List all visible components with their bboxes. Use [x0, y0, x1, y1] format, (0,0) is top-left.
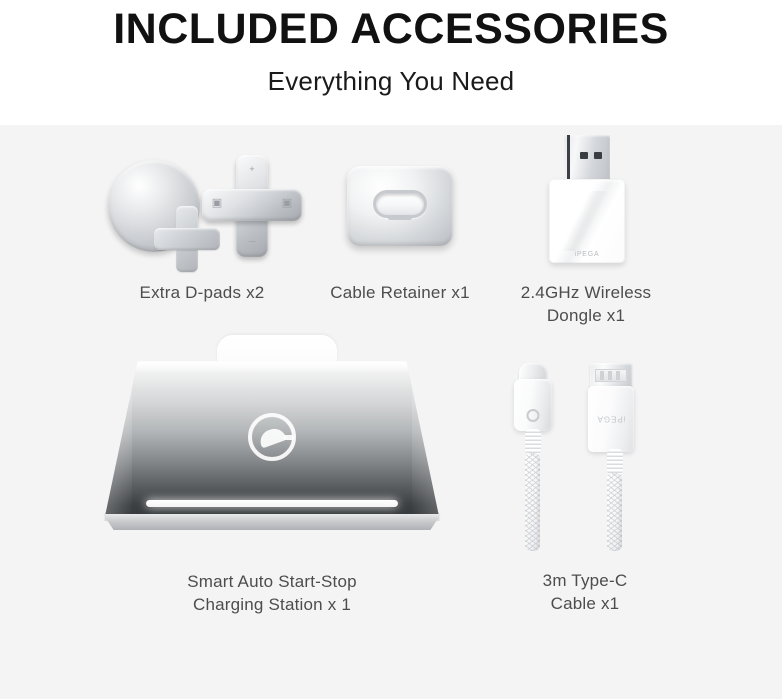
station-shell — [104, 361, 440, 521]
braided-wire-right — [607, 473, 622, 551]
cable-retainer-icon — [320, 147, 480, 267]
dpad-glyph-left: ▣ — [206, 199, 228, 208]
usb-a-pin-1 — [600, 371, 604, 380]
accessory-item-type-c-cable: iPEGA 3m Type-C Cable x1 — [492, 357, 678, 615]
dpad-glyph-down: — — [236, 237, 268, 246]
usb-a-pin-3 — [616, 371, 620, 380]
accessory-item-extra-dpads: + ▣ ▣ — Extra D-pads x2 — [96, 147, 308, 304]
station-right-highlight — [412, 365, 438, 515]
usb-c-cable-icon: iPEGA — [492, 357, 678, 553]
accessory-item-charging-station: Smart Auto Start-Stop Charging Station x… — [82, 335, 462, 616]
accessory-item-wireless-dongle: iPEGA 2.4GHz Wireless Dongle x1 — [498, 129, 674, 327]
dongle-housing-sheen — [549, 191, 625, 251]
charging-station-icon — [82, 335, 462, 550]
station-base — [96, 514, 448, 530]
dongle-usb-plug — [564, 135, 610, 183]
usb-a-strain-relief — [607, 449, 623, 475]
accessory-label-wireless-dongle: 2.4GHz Wireless Dongle x1 — [498, 281, 674, 327]
accessory-label-type-c-cable: 3m Type-C Cable x1 — [492, 569, 678, 615]
dpad-cross-icon: + ▣ ▣ — — [200, 153, 304, 259]
dongle-plug-slot-left — [580, 152, 588, 159]
header-section: INCLUDED ACCESSORIES Everything You Need — [0, 0, 782, 125]
ipega-g-logo — [248, 413, 296, 461]
braided-wire-left — [525, 453, 540, 551]
dpad-round-icon — [108, 160, 200, 252]
dpad-glyph-up: + — [236, 165, 268, 174]
accessory-label-extra-dpads: Extra D-pads x2 — [96, 281, 308, 304]
station-left-highlight — [106, 365, 132, 515]
usb-c-housing — [514, 379, 552, 431]
dongle-housing: iPEGA — [549, 179, 625, 263]
dongle-plug-edge — [567, 135, 570, 183]
accessories-infographic: INCLUDED ACCESSORIES Everything You Need… — [0, 0, 782, 699]
accessories-panel: + ▣ ▣ — Extra D-pads x2 Cable Retainer x… — [0, 125, 782, 699]
page-subtitle: Everything You Need — [0, 64, 782, 98]
dongle-brand-mark: iPEGA — [549, 251, 625, 258]
accessory-label-charging-station: Smart Auto Start-Stop Charging Station x… — [82, 570, 462, 616]
usb-a-pin-2 — [608, 371, 612, 380]
station-top-highlight — [124, 362, 420, 372]
dpad-glyph-right: ▣ — [276, 199, 298, 208]
page-title: INCLUDED ACCESSORIES — [0, 4, 782, 54]
accessory-label-cable-retainer: Cable Retainer x1 — [320, 281, 480, 304]
retainer-hole — [373, 190, 427, 218]
station-led-strip — [146, 500, 398, 507]
accessory-item-cable-retainer: Cable Retainer x1 — [320, 147, 480, 304]
usb-a-brand-mark: iPEGA — [596, 415, 625, 424]
retainer-body — [347, 166, 453, 246]
usb-c-strain-relief — [525, 429, 541, 455]
usb-c-brand-mark — [527, 409, 540, 422]
dongle-plug-slot-right — [594, 152, 602, 159]
dpad-icon: + ▣ ▣ — — [96, 147, 308, 267]
usb-dongle-icon: iPEGA — [498, 129, 674, 267]
usb-a-housing: iPEGA — [588, 386, 634, 452]
